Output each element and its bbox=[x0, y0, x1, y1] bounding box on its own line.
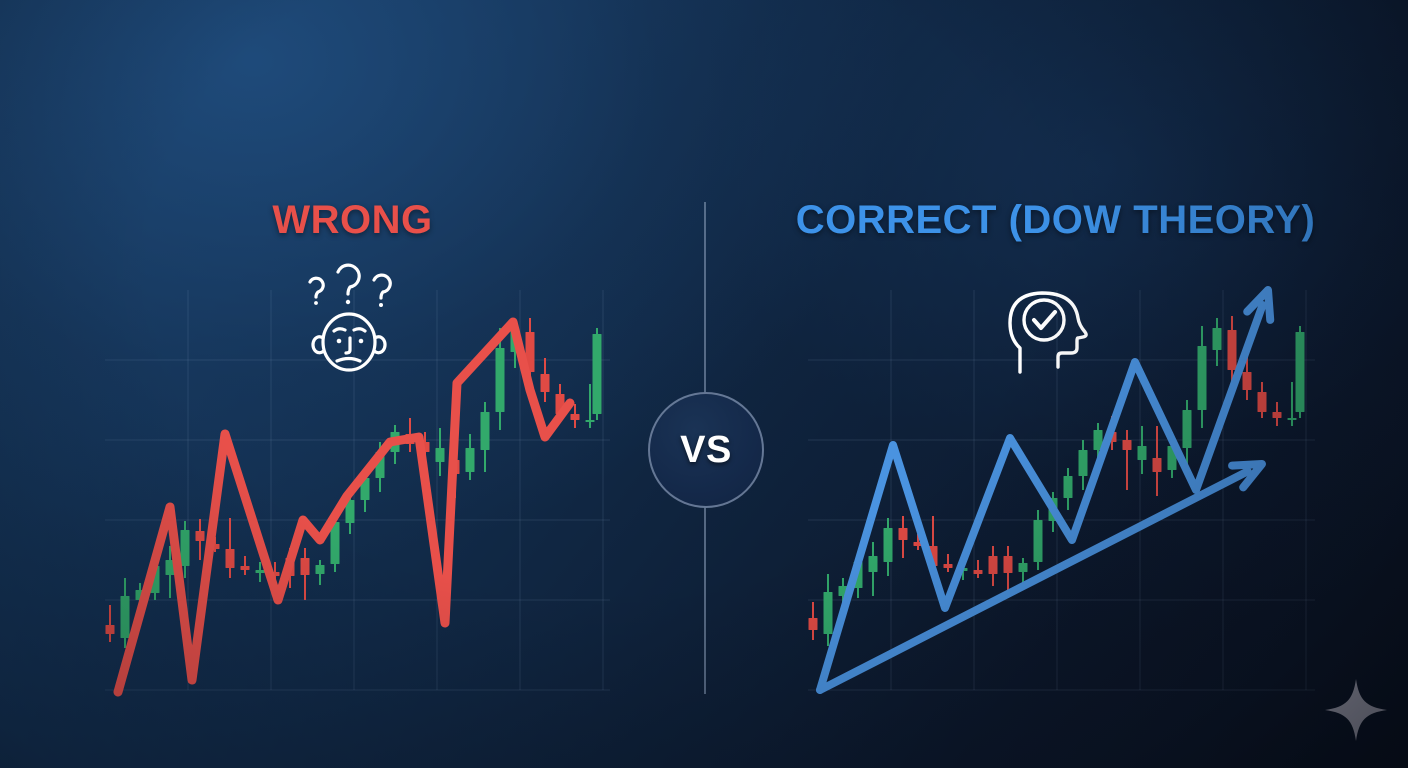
vs-badge-label: VS bbox=[680, 429, 732, 472]
panel-title-correct: CORRECT (DOW THEORY) bbox=[703, 200, 1408, 240]
sparkle-icon bbox=[1322, 676, 1390, 744]
head-with-checkmark-icon bbox=[1004, 288, 1098, 380]
vs-badge: VS bbox=[648, 392, 764, 508]
confused-face-icon bbox=[296, 256, 404, 374]
infographic-canvas: WRONG CORRECT (DOW THEORY) bbox=[0, 0, 1408, 768]
panel-title-wrong: WRONG bbox=[0, 200, 705, 240]
